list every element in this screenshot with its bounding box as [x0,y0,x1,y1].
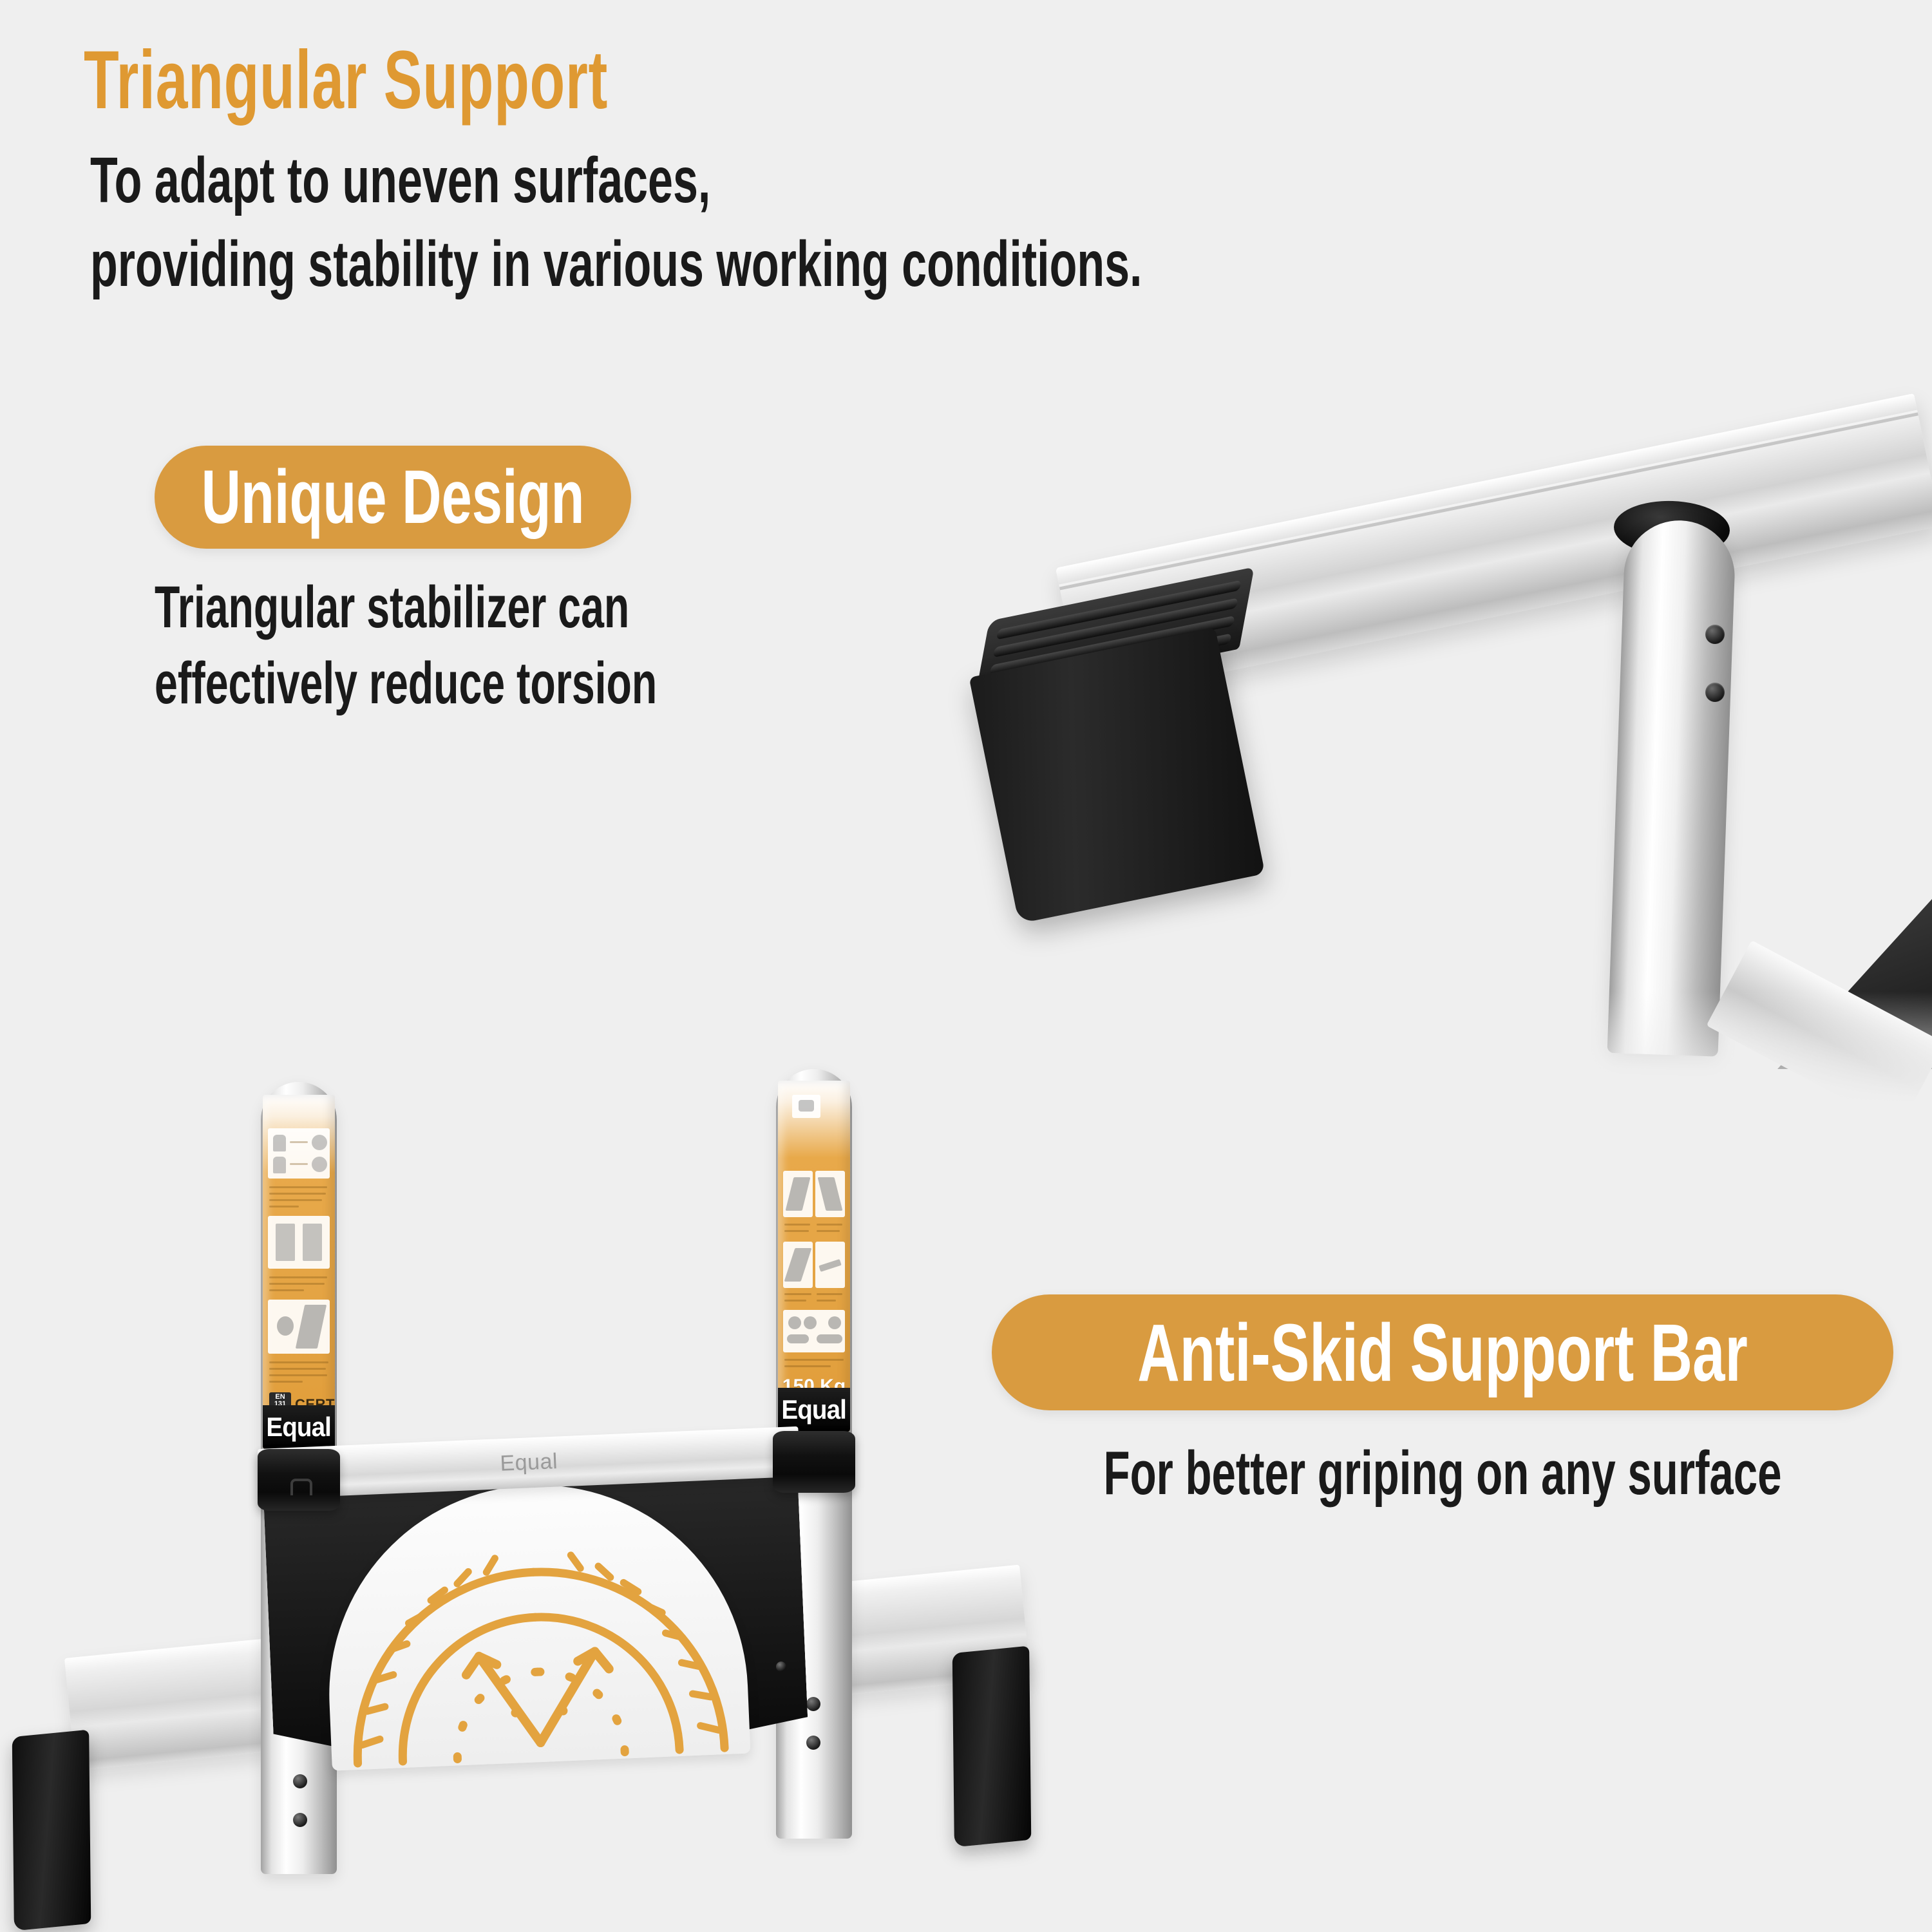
rivet-icon [806,1736,820,1750]
badge-anti-skid-label: Anti-Skid Support Bar [1137,1306,1748,1399]
anti-skid-foot-icon [959,572,1291,923]
right-warning-label: 150 Kg Capacity Equal [778,1081,850,1432]
caption-anti-skid: For better griping on any surface [1104,1436,1782,1510]
page-title: Triangular Support [84,39,608,123]
caption-unique-design-line2: effectively reduce torsion [155,646,657,722]
angle-arrows-icon [321,1477,750,1771]
collar-clamp-icon [773,1431,855,1493]
rivet-icon [293,1813,307,1827]
badge-unique-design-label: Unique Design [202,453,585,541]
rivet-icon [1705,683,1725,702]
anti-skid-foot-icon [952,1646,1032,1848]
end-cap-face [969,627,1265,923]
bolt-hole-icon [776,1662,786,1672]
left-warning-label: EN 131 CERTIFIED Equal [263,1095,335,1449]
vertical-tube [1607,518,1737,1056]
caption-unique-design: Triangular stabilizer can effectively re… [155,570,657,722]
rivet-icon [1705,625,1725,644]
page-subtitle-line2: providing stability in various working c… [90,222,1142,306]
brand-box-left: Equal [263,1405,335,1449]
brand-label: Equal [267,1412,332,1443]
collar-clamp-icon [258,1449,340,1511]
rail-groove [1059,412,1918,590]
rivet-icon [806,1697,820,1711]
brand-label: Equal [782,1394,847,1425]
badge-unique-design: Unique Design [155,446,631,549]
caption-unique-design-line1: Triangular stabilizer can [155,570,657,646]
poster-canvas: Triangular Support To adapt to uneven su… [0,0,1932,1932]
crossbar-brand-label: Equal [500,1449,558,1477]
brand-box-right: Equal [778,1388,850,1432]
rail-top-edge [1056,393,1917,585]
page-subtitle: To adapt to uneven surfaces, providing s… [90,138,1142,306]
anti-skid-foot-icon [12,1730,91,1931]
product-photo-end-cap-detail [953,412,1932,1056]
page-subtitle-line1: To adapt to uneven surfaces, [90,138,1142,222]
collar-emboss-mark [290,1479,312,1495]
product-photo-stabilizer: EN 131 CERTIFIED Equal [0,1005,1159,1932]
rivet-icon [293,1774,307,1788]
